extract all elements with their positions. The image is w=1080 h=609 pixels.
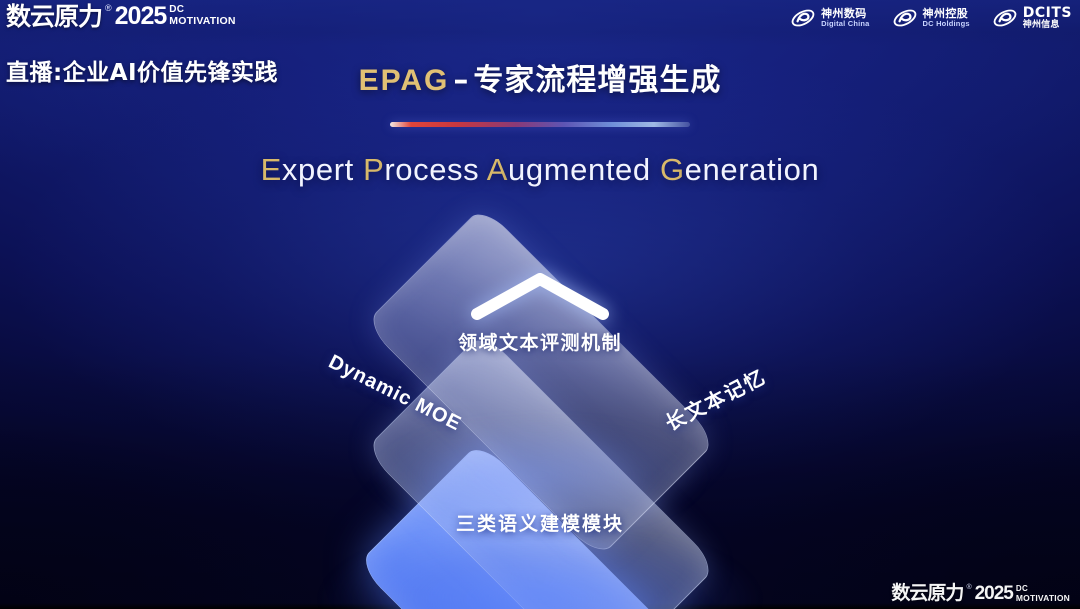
subtitle-word-generation: eneration (685, 152, 820, 187)
logo-name-en: DC Holdings (923, 20, 970, 28)
swirl-logo-icon (892, 5, 918, 31)
logo-text: 神州数码 Digital China (821, 8, 869, 27)
brand-dc-motivation: DC MOTIVATION (169, 5, 235, 27)
logo-name-en: Digital China (821, 20, 869, 28)
watermark-dc-motivation: DC MOTIVATION (1016, 585, 1070, 603)
slide-subtitle: Expert Process Augmented Generation (0, 152, 1080, 188)
slide-title: EPAG–专家流程增强生成 (0, 55, 1080, 99)
title-divider (390, 122, 690, 127)
subtitle-cap-a: A (487, 152, 508, 187)
layer-label-top: 领域文本评测机制 (458, 328, 622, 355)
presentation-slide: 数云原力 ® 2025 DC MOTIVATION 直播:企业AI价值先锋实践 … (0, 0, 1080, 609)
title-acronym: EPAG (359, 64, 450, 97)
logo-text: 神州控股 DC Holdings (923, 8, 970, 27)
bottom-watermark: 数云原力 ® 2025 DC MOTIVATION (891, 584, 1070, 603)
logo-dcits: DCITS 神州信息 (992, 5, 1072, 31)
watermark-registered-mark: ® (966, 584, 971, 591)
subtitle-word-augmented: ugmented (508, 152, 651, 187)
logo-name-en: 神州信息 (1023, 21, 1072, 30)
title-dash: – (449, 63, 473, 98)
chevron-up-icon (467, 268, 613, 324)
subtitle-word-process: rocess (384, 152, 479, 187)
subtitle-cap-e: E (261, 152, 282, 187)
swirl-logo-icon (790, 5, 816, 31)
watermark-brand-cn: 数云原力 (891, 584, 963, 603)
brand-dc-label: DC (169, 5, 235, 15)
subtitle-cap-g: G (660, 152, 685, 187)
layer-label-bottom: 三类语义建模模块 (456, 509, 624, 536)
watermark-dc-label: DC (1016, 585, 1070, 593)
watermark-motivation-label: MOTIVATION (1016, 594, 1070, 603)
brand-lockup: 数云原力 ® 2025 DC MOTIVATION (6, 4, 236, 29)
logo-digital-china: 神州数码 Digital China (790, 5, 869, 31)
title-chinese: 专家流程增强生成 (473, 63, 721, 98)
brand-motivation-label: MOTIVATION (169, 16, 235, 27)
swirl-logo-icon (992, 5, 1018, 31)
watermark-year: 2025 (975, 584, 1013, 603)
subtitle-word-expert: xpert (282, 152, 354, 187)
subtitle-cap-p: P (363, 152, 384, 187)
brand-year: 2025 (115, 4, 167, 29)
partner-logo-row: 神州数码 Digital China 神州控股 DC Holdings (790, 5, 1072, 31)
logo-name-cn: DCITS (1023, 6, 1072, 21)
layered-architecture-diagram: 领域文本评测机制 Dynamic MOE 长文本记忆 三类语义建模模块 (260, 224, 820, 584)
logo-dc-holdings: 神州控股 DC Holdings (892, 5, 970, 31)
brand-registered-mark: ® (105, 4, 112, 13)
brand-name-cn: 数云原力 (6, 4, 102, 29)
logo-text: DCITS 神州信息 (1023, 6, 1072, 30)
